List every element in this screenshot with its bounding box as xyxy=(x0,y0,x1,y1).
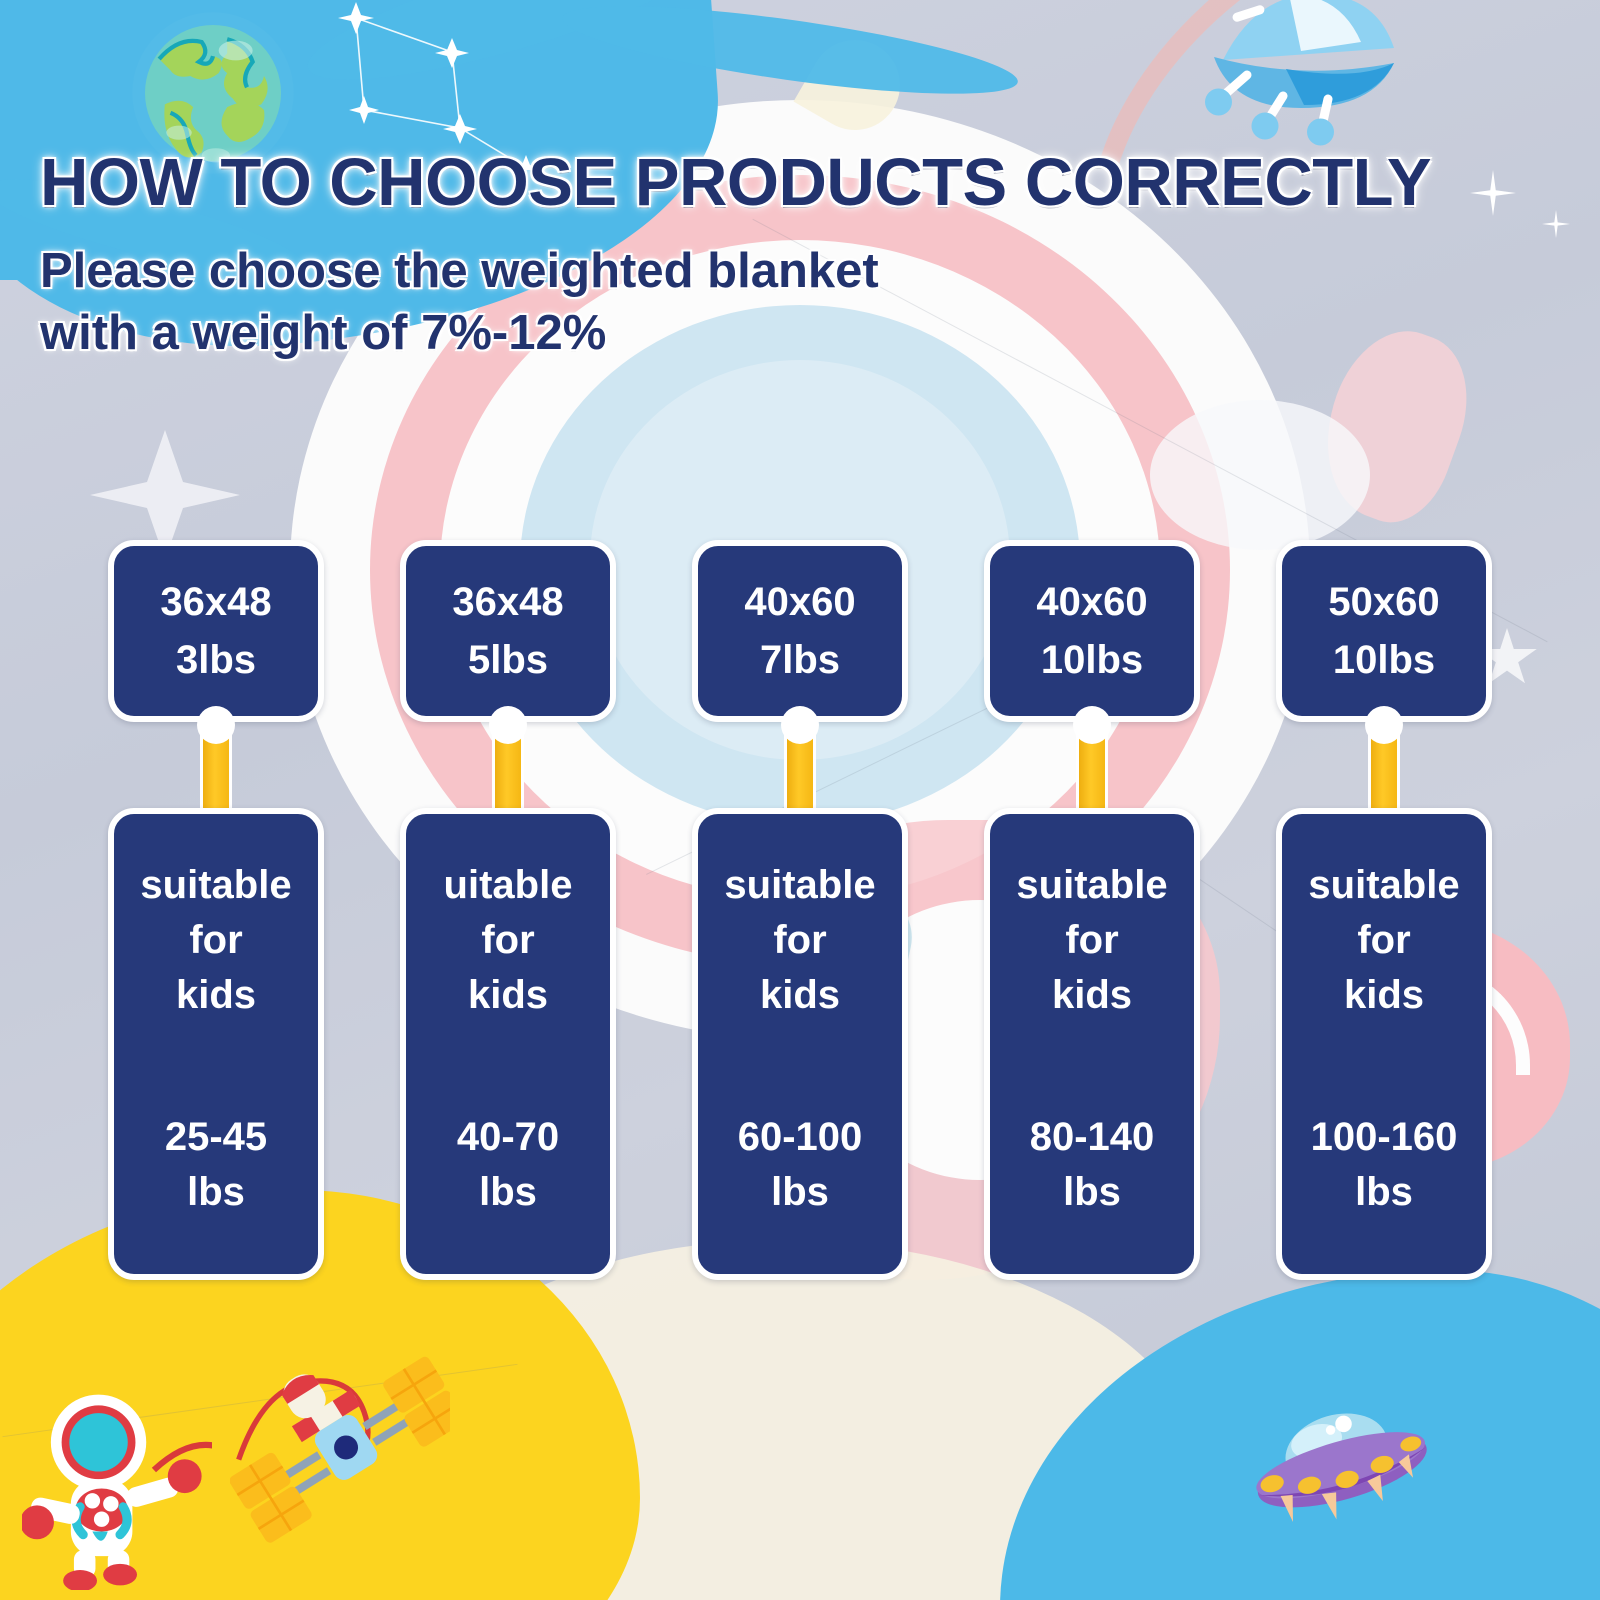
suitable-text: suitable for kids xyxy=(1016,858,1167,1024)
suitable-line-3: kids xyxy=(140,968,291,1023)
subtitle-line-1: Please choose the weighted blanket xyxy=(40,240,1431,303)
connector xyxy=(108,722,324,822)
product-size-label: 36x48 xyxy=(160,573,271,631)
suitable-line-3: kids xyxy=(444,968,573,1023)
product-size-card[interactable]: 36x48 3lbs xyxy=(108,540,324,722)
bg-fold-line xyxy=(2,1364,517,1437)
product-size-label: 40x60 xyxy=(744,573,855,631)
connector-dot-icon xyxy=(489,706,527,744)
product-weight-label: 3lbs xyxy=(176,631,256,689)
size-column: 40x60 10lbs suitable for kids 80-140 lbs xyxy=(984,540,1200,1300)
suitable-line-1: suitable xyxy=(1308,858,1459,913)
recommendation-card[interactable]: suitable for kids 60-100 lbs xyxy=(692,808,908,1280)
bg-shape-6 xyxy=(1150,400,1370,550)
suitable-line-1: uitable xyxy=(444,858,573,913)
connector-dot-icon xyxy=(197,706,235,744)
connector xyxy=(984,722,1200,822)
suitable-line-2: for xyxy=(444,913,573,968)
sparkle-icon xyxy=(1470,170,1516,216)
suitable-line-1: suitable xyxy=(1016,858,1167,913)
product-weight-label: 7lbs xyxy=(760,631,840,689)
product-weight-label: 10lbs xyxy=(1333,631,1435,689)
weight-range-value: 80-140 xyxy=(1030,1110,1155,1165)
suitable-line-1: suitable xyxy=(140,858,291,913)
suitable-line-3: kids xyxy=(1016,968,1167,1023)
weight-range-text: 100-160 lbs xyxy=(1311,1110,1458,1220)
product-size-card[interactable]: 40x60 10lbs xyxy=(984,540,1200,722)
sparkle-icon xyxy=(1542,210,1570,238)
connector xyxy=(692,722,908,822)
page-subtitle: Please choose the weighted blanket with … xyxy=(40,240,1431,365)
suitable-text: suitable for kids xyxy=(724,858,875,1024)
weight-range-value: 25-45 xyxy=(165,1110,267,1165)
ufo-icon xyxy=(1245,1398,1435,1528)
suitable-text: uitable for kids xyxy=(444,858,573,1024)
weight-range-value: 100-160 xyxy=(1311,1110,1458,1165)
product-weight-label: 10lbs xyxy=(1041,631,1143,689)
product-size-card[interactable]: 40x60 7lbs xyxy=(692,540,908,722)
satellite-icon xyxy=(230,1345,450,1545)
weight-range-unit: lbs xyxy=(738,1165,863,1220)
weight-range-text: 25-45 lbs xyxy=(165,1110,267,1220)
bg-shape-2 xyxy=(794,24,917,147)
recommendation-card[interactable]: suitable for kids 100-160 lbs xyxy=(1276,808,1492,1280)
weight-range-text: 40-70 lbs xyxy=(457,1110,559,1220)
suitable-line-2: for xyxy=(1308,913,1459,968)
product-weight-label: 5lbs xyxy=(468,631,548,689)
product-size-label: 36x48 xyxy=(452,573,563,631)
connector-dot-icon xyxy=(1365,706,1403,744)
suitable-line-2: for xyxy=(724,913,875,968)
size-column: 36x48 5lbs uitable for kids 40-70 lbs xyxy=(400,540,616,1300)
size-column: 40x60 7lbs suitable for kids 60-100 lbs xyxy=(692,540,908,1300)
infographic-canvas: HOW TO CHOOSE PRODUCTS CORRECTLY Please … xyxy=(0,0,1600,1600)
weight-range-unit: lbs xyxy=(1030,1165,1155,1220)
recommendation-card[interactable]: suitable for kids 80-140 lbs xyxy=(984,808,1200,1280)
page-title: HOW TO CHOOSE PRODUCTS CORRECTLY xyxy=(40,148,1431,218)
weight-range-text: 80-140 lbs xyxy=(1030,1110,1155,1220)
weight-range-unit: lbs xyxy=(165,1165,267,1220)
weight-range-unit: lbs xyxy=(457,1165,559,1220)
suitable-line-3: kids xyxy=(1308,968,1459,1023)
connector-dot-icon xyxy=(781,706,819,744)
heading-block: HOW TO CHOOSE PRODUCTS CORRECTLY Please … xyxy=(40,148,1431,365)
suitable-text: suitable for kids xyxy=(140,858,291,1024)
connector xyxy=(400,722,616,822)
weight-range-text: 60-100 lbs xyxy=(738,1110,863,1220)
product-size-label: 40x60 xyxy=(1036,573,1147,631)
bg-ribbon-1 xyxy=(297,0,723,106)
suitable-line-2: for xyxy=(140,913,291,968)
connector xyxy=(1276,722,1492,822)
astronaut-icon xyxy=(22,1390,212,1590)
suitable-line-3: kids xyxy=(724,968,875,1023)
recommendation-card[interactable]: uitable for kids 40-70 lbs xyxy=(400,808,616,1280)
weight-range-value: 40-70 xyxy=(457,1110,559,1165)
spaceship-icon xyxy=(1196,0,1406,162)
size-column: 50x60 10lbs suitable for kids 100-160 lb… xyxy=(1276,540,1492,1300)
size-chart-columns: 36x48 3lbs suitable for kids 25-45 lbs xyxy=(0,540,1600,1300)
size-column: 36x48 3lbs suitable for kids 25-45 lbs xyxy=(108,540,324,1300)
suitable-line-2: for xyxy=(1016,913,1167,968)
connector-dot-icon xyxy=(1073,706,1111,744)
product-size-card[interactable]: 50x60 10lbs xyxy=(1276,540,1492,722)
product-size-card[interactable]: 36x48 5lbs xyxy=(400,540,616,722)
bg-ribbon-2 xyxy=(558,0,1022,112)
product-size-label: 50x60 xyxy=(1328,573,1439,631)
subtitle-line-2: with a weight of 7%-12% xyxy=(40,302,1431,365)
weight-range-value: 60-100 xyxy=(738,1110,863,1165)
weight-range-unit: lbs xyxy=(1311,1165,1458,1220)
bg-planet-cyan xyxy=(1000,1270,1600,1600)
suitable-line-1: suitable xyxy=(724,858,875,913)
suitable-text: suitable for kids xyxy=(1308,858,1459,1024)
recommendation-card[interactable]: suitable for kids 25-45 lbs xyxy=(108,808,324,1280)
